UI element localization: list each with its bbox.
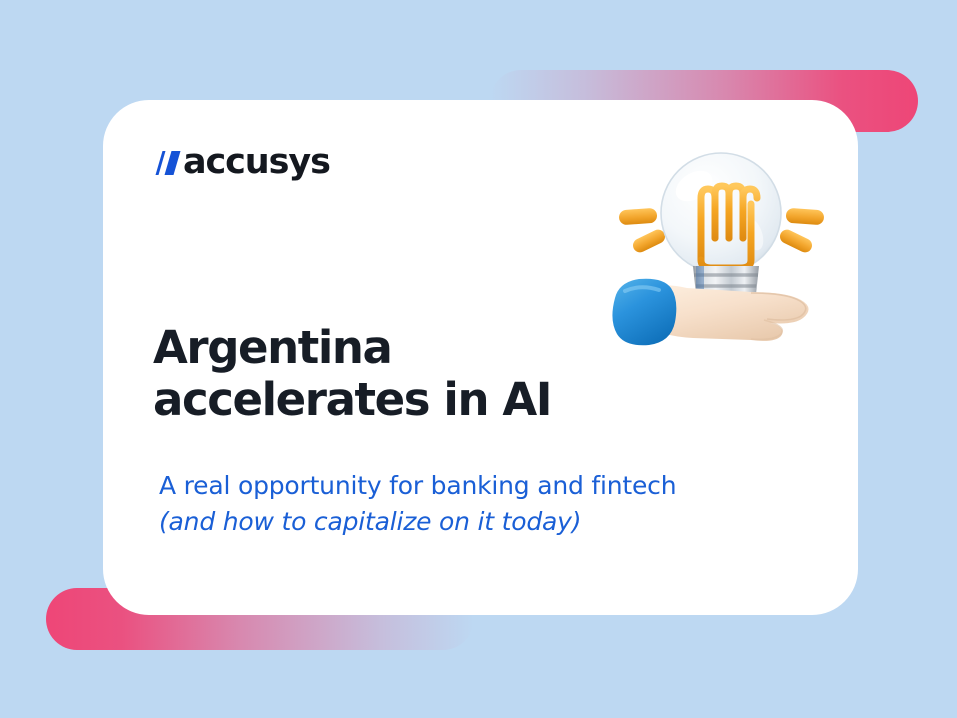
lightbulb-glass <box>661 153 781 273</box>
brand-wordmark: accusys <box>183 145 330 180</box>
subtitle-line-1: A real opportunity for banking and finte… <box>159 468 799 504</box>
page-title: Argentina accelerates in AI <box>153 322 673 426</box>
accusys-logo-mark-icon <box>151 145 185 179</box>
brand-logo[interactable]: accusys <box>151 142 330 182</box>
content-card: accusys Argentina accelerates in AI A re… <box>103 100 858 615</box>
light-ray-group-right <box>778 208 825 255</box>
subtitle-block: A real opportunity for banking and finte… <box>159 468 799 539</box>
light-ray-group-left <box>619 208 668 255</box>
slide-canvas: accusys Argentina accelerates in AI A re… <box>0 0 957 718</box>
blue-shirt-cuff <box>612 279 676 346</box>
subtitle-line-2: (and how to capitalize on it today) <box>159 504 799 540</box>
hand-holding-lightbulb-illustration <box>601 142 841 354</box>
